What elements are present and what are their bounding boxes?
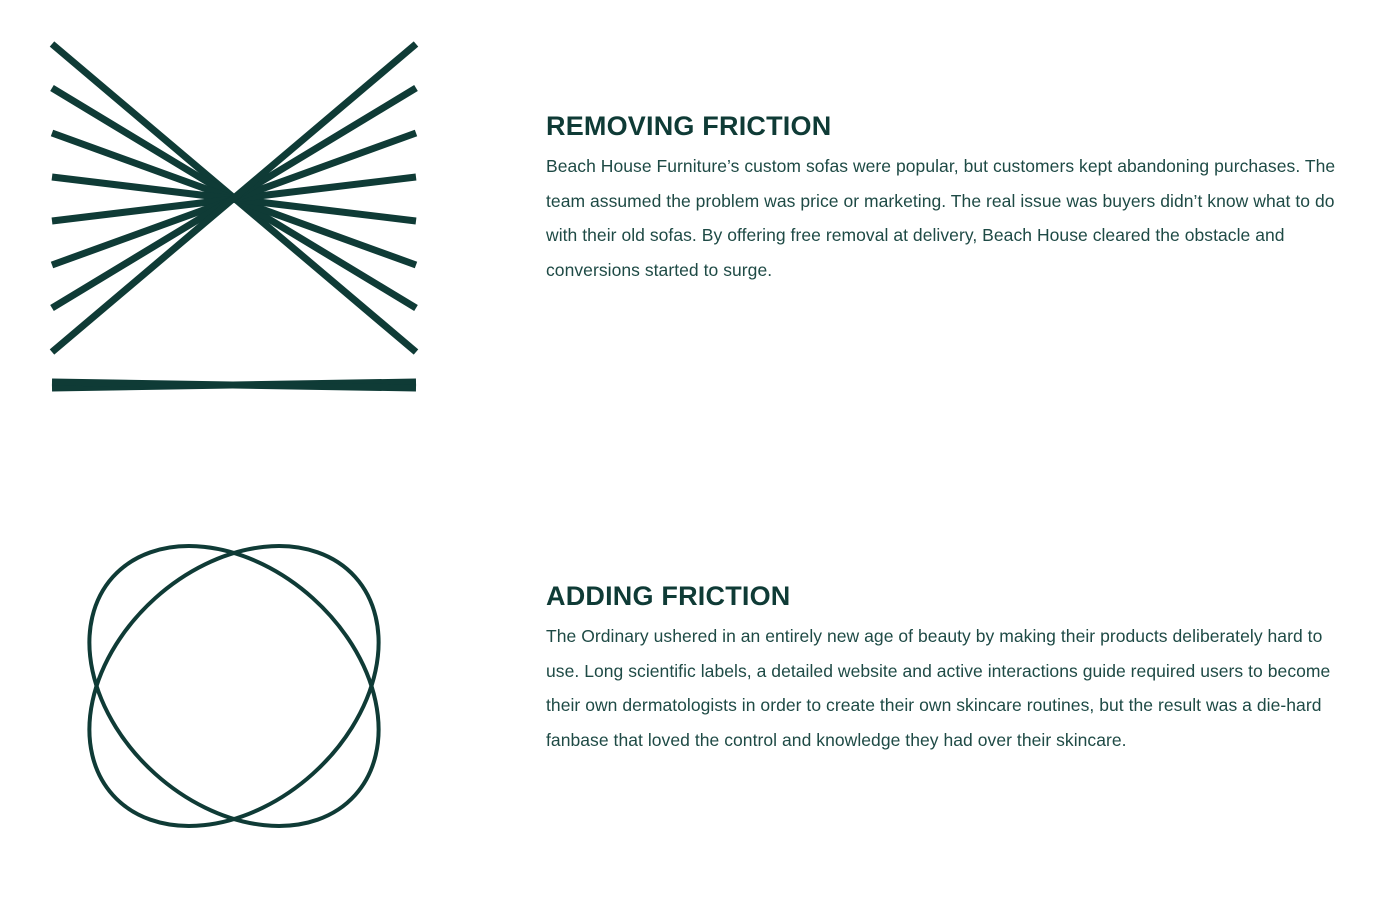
section-heading-removing-friction: REMOVING FRICTION <box>546 110 1356 142</box>
text-block-adding-friction: ADDING FRICTION The Ordinary ushered in … <box>546 580 1356 757</box>
crossed-ellipses-illustration <box>0 0 470 906</box>
page-root: REMOVING FRICTION Beach House Furniture’… <box>0 0 1391 906</box>
section-heading-adding-friction: ADDING FRICTION <box>546 580 1356 612</box>
text-block-removing-friction: REMOVING FRICTION Beach House Furniture’… <box>546 110 1356 287</box>
section-paragraph-removing-friction: Beach House Furniture’s custom sofas wer… <box>546 149 1356 287</box>
section-paragraph-adding-friction: The Ordinary ushered in an entirely new … <box>546 619 1356 757</box>
section-adding-friction: ADDING FRICTION The Ordinary ushered in … <box>0 0 470 906</box>
